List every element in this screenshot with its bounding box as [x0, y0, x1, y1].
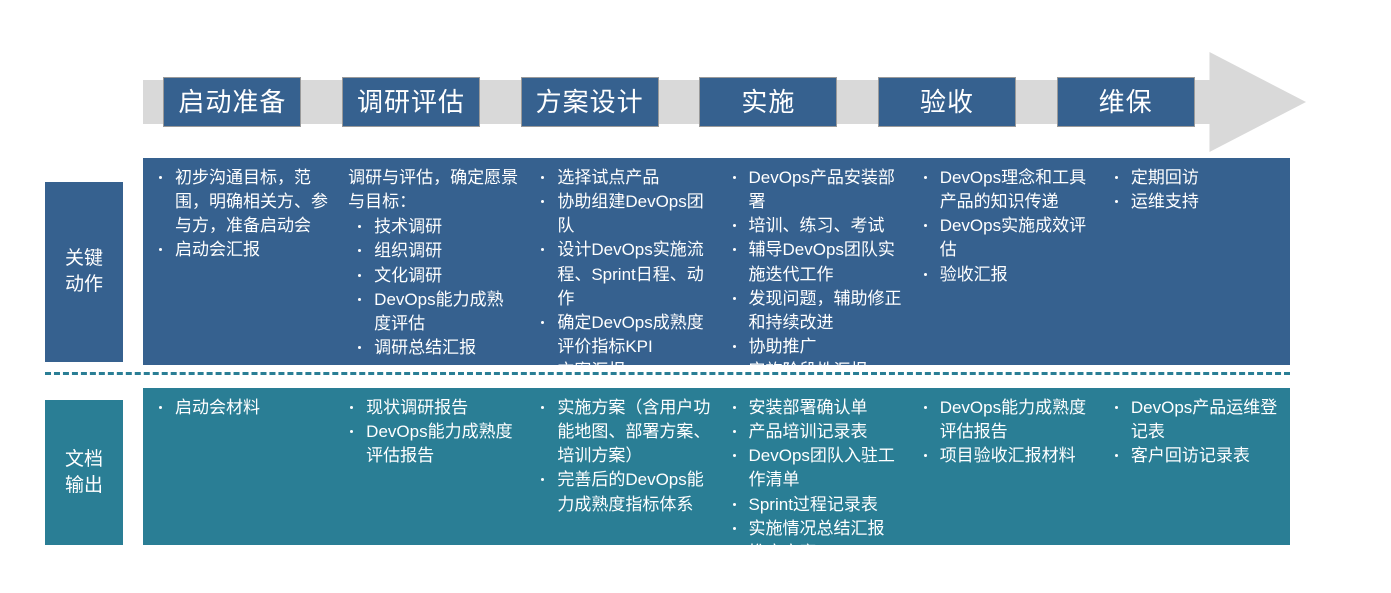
phase-cell: 启动准备 [143, 52, 322, 152]
bullet-list: 选择试点产品协助组建DevOps团队设计DevOps实施流程、Sprint日程、… [535, 166, 710, 383]
bullet-item: 培训、练习、考试 [727, 214, 902, 238]
label-line: 关键 [65, 248, 103, 269]
bullet-item: 安装部署确认单 [727, 396, 902, 420]
key-actions-column-5: DevOps理念和工具产品的知识传递DevOps实施成效评估验收汇报 [908, 166, 1099, 355]
bullet-item: 现状调研报告 [344, 396, 519, 420]
key-actions-column-4: DevOps产品安装部署培训、练习、考试辅导DevOps团队实施迭代工作发现问题… [717, 166, 908, 355]
bullet-item: 协助推广 [727, 335, 902, 359]
bullet-list: 实施方案（含用户功能地图、部署方案、培训方案）完善后的DevOps能力成熟度指标… [535, 396, 710, 517]
bullet-item: 辅导DevOps团队实施迭代工作 [727, 238, 902, 286]
phase-cell: 方案设计 [500, 52, 679, 152]
bullet-item: DevOps能力成熟度评估报告 [918, 396, 1093, 444]
key-actions-column-1: 初步沟通目标，范围，明确相关方、参与方，准备启动会启动会汇报 [143, 166, 334, 355]
doc-output-column-3: 实施方案（含用户功能地图、部署方案、培训方案）完善后的DevOps能力成熟度指标… [525, 396, 716, 535]
phase-box-6[interactable]: 维保 [1057, 77, 1195, 127]
bullet-list: DevOps理念和工具产品的知识传递DevOps实施成效评估验收汇报 [918, 166, 1093, 287]
bullet-item: 启动会汇报 [153, 238, 328, 262]
bullet-item: 完善后的DevOps能力成熟度指标体系 [535, 468, 710, 516]
bullet-list: 现状调研报告DevOps能力成熟度评估报告 [344, 396, 519, 468]
bullet-item: 推广方案 [727, 541, 902, 565]
label-line: 动作 [65, 274, 103, 295]
bullet-list: 初步沟通目标，范围，明确相关方、参与方，准备启动会启动会汇报 [153, 166, 328, 263]
bullet-item: DevOps能力成熟度评估 [352, 288, 519, 336]
phase-box-2[interactable]: 调研评估 [342, 77, 480, 127]
bullet-item: 文化调研 [352, 264, 519, 288]
row-label-key-actions-text: 关键动作 [65, 246, 103, 297]
bullet-item: Sprint过程记录表 [727, 493, 902, 517]
label-line: 输出 [65, 475, 103, 496]
label-line: 文档 [65, 449, 103, 470]
row-label-doc-output: 文档输出 [45, 400, 123, 545]
doc-output-column-5: DevOps能力成熟度评估报告项目验收汇报材料 [908, 396, 1099, 535]
phase-cell: 验收 [858, 52, 1037, 152]
phase-cell: 维保 [1036, 52, 1215, 152]
bullet-item: DevOps能力成熟度评估报告 [344, 420, 519, 468]
bullet-item: 协助组建DevOps团队 [535, 190, 710, 238]
doc-output-column-4: 安装部署确认单产品培训记录表DevOps团队入驻工作清单Sprint过程记录表实… [717, 396, 908, 535]
bullet-list: 定期回访运维支持 [1109, 166, 1284, 214]
doc-output-band: 启动会材料现状调研报告DevOps能力成熟度评估报告实施方案（含用户功能地图、部… [143, 388, 1290, 545]
bullet-list: 技术调研组织调研文化调研DevOps能力成熟度评估调研总结汇报 [344, 215, 519, 360]
phase-cell: 调研评估 [322, 52, 501, 152]
row-label-key-actions: 关键动作 [45, 182, 123, 362]
bullet-item: 验收汇报 [918, 263, 1093, 287]
bullet-item: DevOps产品安装部署 [727, 166, 902, 214]
bullet-item: DevOps团队入驻工作清单 [727, 444, 902, 492]
bullet-list: DevOps产品安装部署培训、练习、考试辅导DevOps团队实施迭代工作发现问题… [727, 166, 902, 383]
bullet-item: 初步沟通目标，范围，明确相关方、参与方，准备启动会 [153, 166, 328, 238]
bullet-item: 实施方案（含用户功能地图、部署方案、培训方案） [535, 396, 710, 468]
phase-box-1[interactable]: 启动准备 [163, 77, 301, 127]
key-actions-column-6: 定期回访运维支持 [1099, 166, 1290, 355]
bullet-item: 确定DevOps成熟度评价指标KPI [535, 311, 710, 359]
key-actions-band: 初步沟通目标，范围，明确相关方、参与方，准备启动会启动会汇报调研与评估，确定愿景… [143, 158, 1290, 365]
bullet-item: DevOps理念和工具产品的知识传递 [918, 166, 1093, 214]
phase-cell: 实施 [679, 52, 858, 152]
key-actions-column-3: 选择试点产品协助组建DevOps团队设计DevOps实施流程、Sprint日程、… [525, 166, 716, 355]
phase-arrow-banner: 启动准备 调研评估 方案设计 实施 验收 维保 [143, 52, 1306, 152]
bullet-item: 客户回访记录表 [1109, 444, 1284, 468]
phase-box-3[interactable]: 方案设计 [521, 77, 659, 127]
bullet-item: 设计DevOps实施流程、Sprint日程、动作 [535, 238, 710, 310]
bullet-item: 产品培训记录表 [727, 420, 902, 444]
bullet-item: DevOps产品运维登记表 [1109, 396, 1284, 444]
bullet-item: 组织调研 [352, 239, 519, 263]
bullet-item: 项目验收汇报材料 [918, 444, 1093, 468]
bullet-item: 定期回访 [1109, 166, 1284, 190]
phase-box-5[interactable]: 验收 [878, 77, 1016, 127]
column-lead-text: 调研与评估，确定愿景与目标： [348, 166, 519, 214]
bullet-item: 调研总结汇报 [352, 336, 519, 360]
row-divider [45, 372, 1290, 375]
bullet-item: 启动会材料 [153, 396, 328, 420]
phase-box-list: 启动准备 调研评估 方案设计 实施 验收 维保 [143, 52, 1215, 152]
bullet-list: 启动会材料 [153, 396, 328, 420]
bullet-item: 选择试点产品 [535, 166, 710, 190]
bullet-list: 安装部署确认单产品培训记录表DevOps团队入驻工作清单Sprint过程记录表实… [727, 396, 902, 565]
doc-output-column-6: DevOps产品运维登记表客户回访记录表 [1099, 396, 1290, 535]
bullet-list: DevOps能力成熟度评估报告项目验收汇报材料 [918, 396, 1093, 468]
bullet-list: DevOps产品运维登记表客户回访记录表 [1109, 396, 1284, 468]
bullet-item: 技术调研 [352, 215, 519, 239]
doc-output-column-2: 现状调研报告DevOps能力成熟度评估报告 [334, 396, 525, 535]
row-label-doc-output-text: 文档输出 [65, 447, 103, 498]
doc-output-column-1: 启动会材料 [143, 396, 334, 535]
phase-box-4[interactable]: 实施 [699, 77, 837, 127]
bullet-item: 发现问题，辅助修正和持续改进 [727, 287, 902, 335]
bullet-item: 实施情况总结汇报 [727, 517, 902, 541]
bullet-item: DevOps实施成效评估 [918, 214, 1093, 262]
key-actions-column-2: 调研与评估，确定愿景与目标：技术调研组织调研文化调研DevOps能力成熟度评估调… [334, 166, 525, 355]
bullet-item: 运维支持 [1109, 190, 1284, 214]
